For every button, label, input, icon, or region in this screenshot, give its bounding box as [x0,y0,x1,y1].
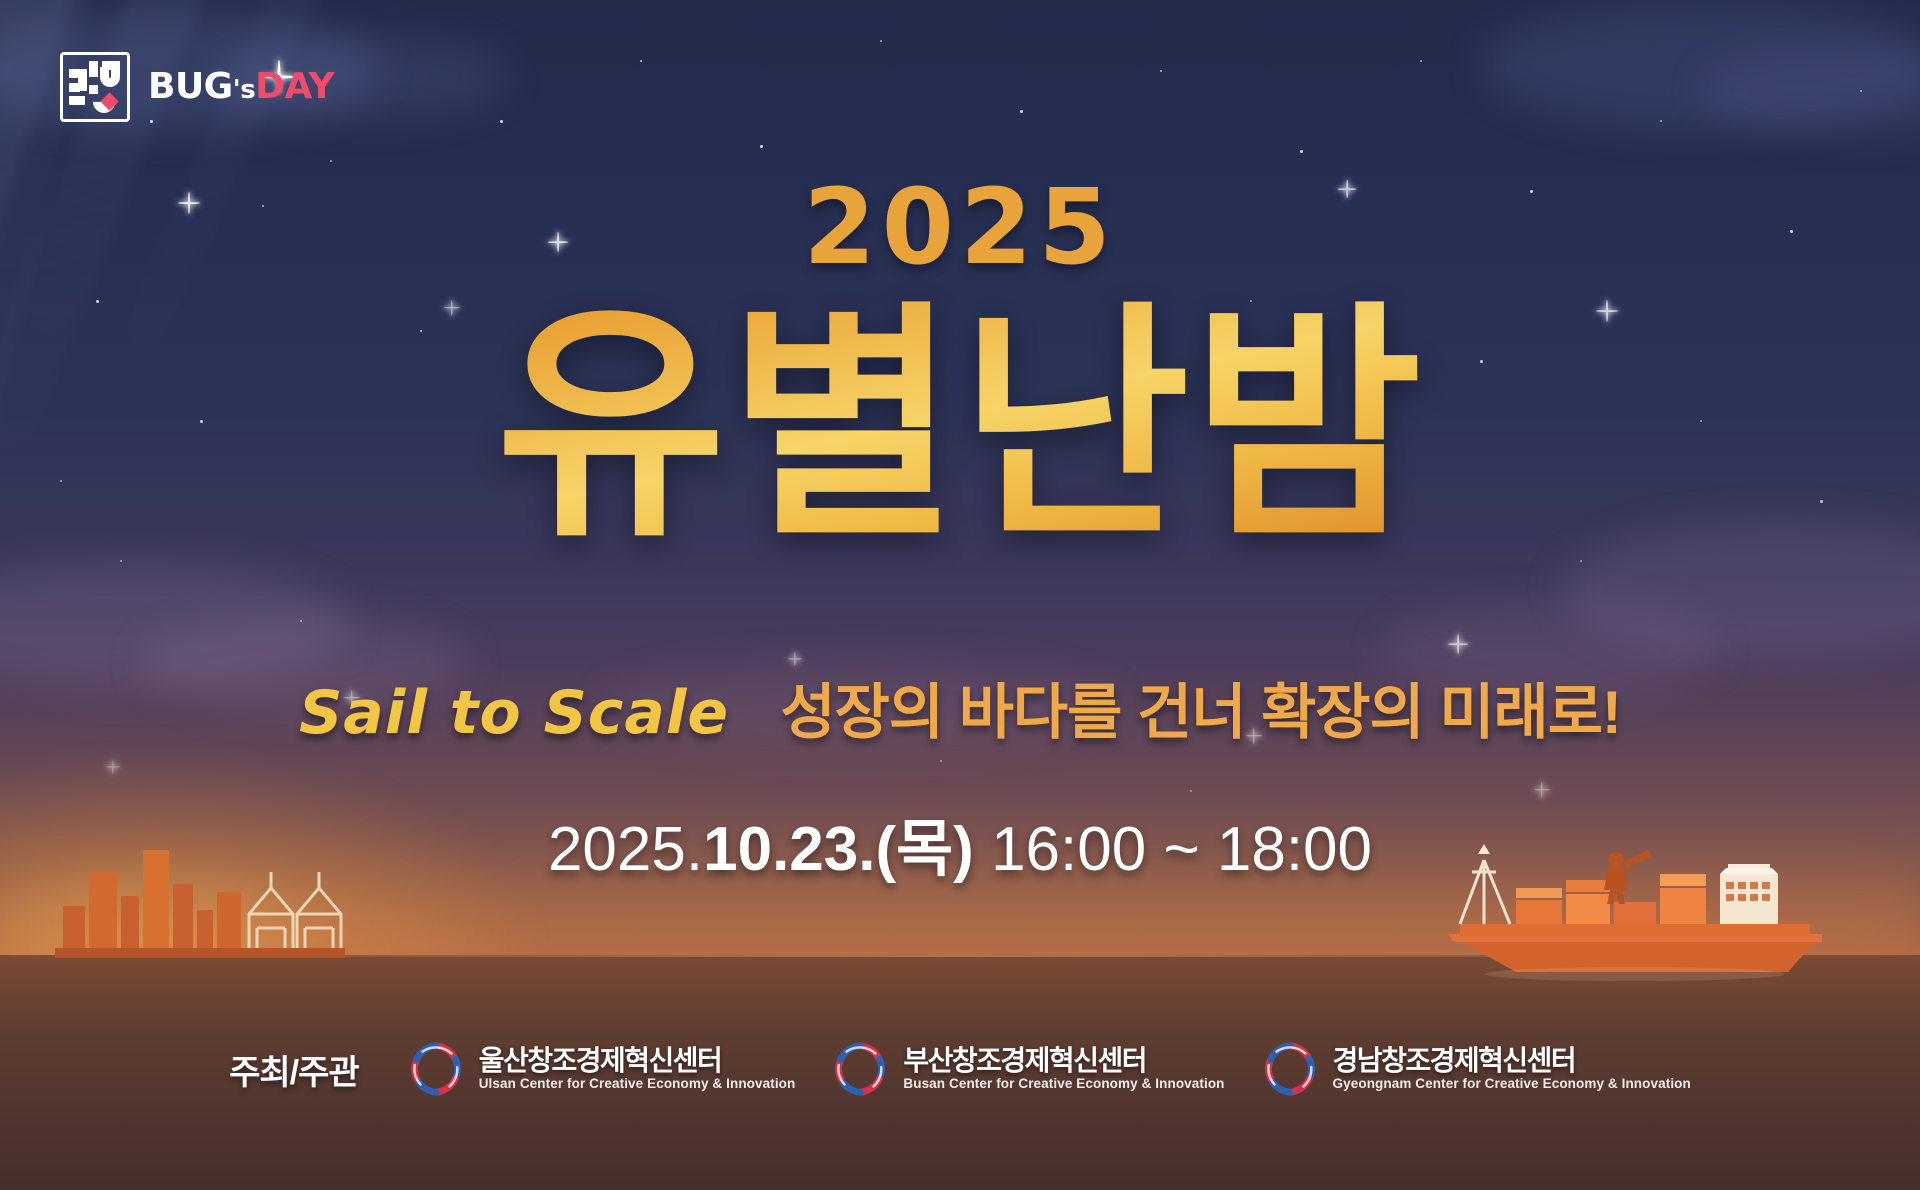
tagline-english: Sail to Scale [299,678,729,748]
ccei-ring-icon [831,1040,889,1098]
page-title: 유별난밤 [0,295,1920,558]
brand-wordmark: BUG'sDAY [148,69,334,105]
footer-organizers: 주최/주관 울산창조경제혁신센터 Ulsan Center for Creati [0,1040,1920,1098]
event-poster: BUG'sDAY 2025 유별난밤 Sail to Scale 성장의 바다를… [0,0,1920,1190]
event-datetime: 2025.10.23.(목) 16:00 ~ 18:00 [0,798,1920,888]
date-prefix: 2025. [548,815,703,884]
organizer-ulsan[interactable]: 울산창조경제혁신센터 Ulsan Center for Creative Eco… [407,1040,796,1098]
organizer-busan[interactable]: 부산창조경제혁신센터 Busan Center for Creative Eco… [831,1040,1224,1098]
event-year: 2025 [0,175,1920,279]
brand-day: DAY [255,66,334,107]
brand-apostrophe-s: 's [233,75,255,105]
tagline: Sail to Scale 성장의 바다를 건너 확장의 미래로! [0,680,1920,746]
organizer-name-ko: 경남창조경제혁신센터 [1333,1047,1691,1075]
organizer-name-en: Busan Center for Creative Economy & Inno… [903,1077,1224,1091]
event-time: 16:00 ~ 18:00 [991,815,1372,884]
organizer-name-en: Gyeongnam Center for Creative Economy & … [1333,1077,1691,1091]
organizer-name-en: Ulsan Center for Creative Economy & Inno… [479,1077,796,1091]
organizer-gyeongnam[interactable]: 경남창조경제혁신센터 Gyeongnam Center for Creative… [1261,1040,1691,1098]
organizer-name-ko: 울산창조경제혁신센터 [479,1047,796,1075]
brand-bug: BUG [148,66,233,107]
host-label: 주최/주관 [229,1045,359,1094]
bugs-day-brand[interactable]: BUG'sDAY [60,52,334,122]
bugs-day-logo-icon [60,52,130,122]
ccei-ring-icon [1261,1040,1319,1098]
ccei-ring-icon [407,1040,465,1098]
tagline-korean: 성장의 바다를 건너 확장의 미래로! [780,679,1620,746]
date-main: 10.23.(목) [703,815,974,884]
organizer-name-ko: 부산창조경제혁신센터 [903,1047,1224,1075]
